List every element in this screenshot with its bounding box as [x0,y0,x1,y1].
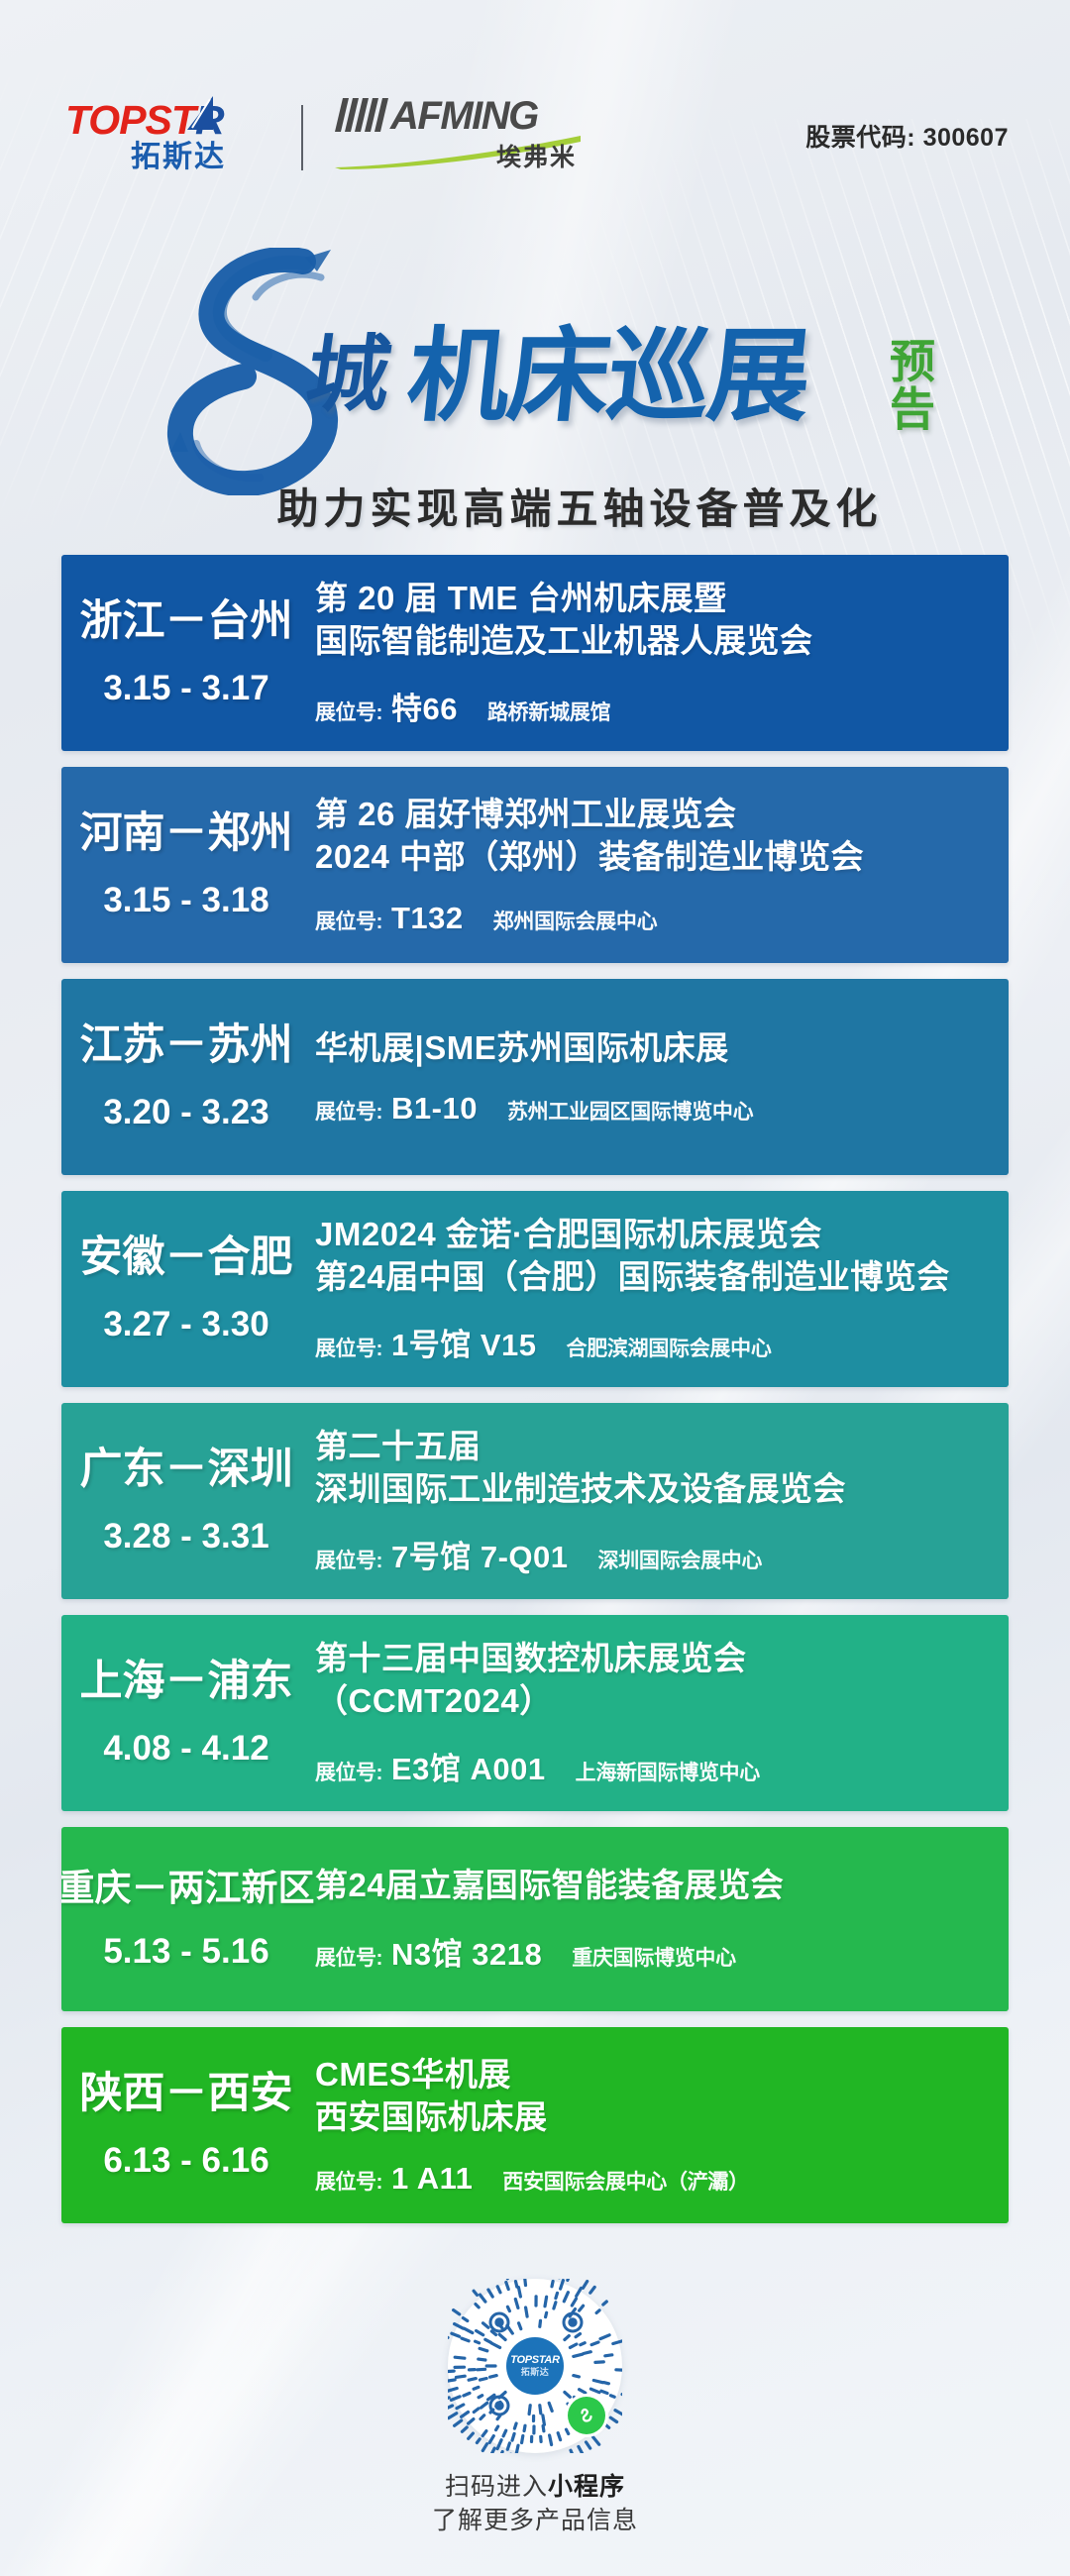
event-date: 3.27 - 3.30 [103,1307,268,1342]
booth-label: 展位号: [315,1545,382,1574]
event-card-left: 浙江－台州3.15 - 3.17 [61,555,311,751]
title-main: 机床巡展 [403,325,814,427]
booth-label: 展位号: [315,906,382,935]
afming-wordmark: AFMING [390,96,538,136]
event-card[interactable]: 安徽－合肥3.27 - 3.30JM2024 金诺·合肥国际机床展览会第24届中… [61,1191,1009,1387]
event-date: 3.28 - 3.31 [103,1519,268,1554]
event-card-right: 第 26 届好博郑州工业展览会2024 中部（郑州）装备制造业博览会展位号:T1… [311,767,1009,963]
booth-label: 展位号: [315,1096,382,1126]
event-date: 3.20 - 3.23 [103,1095,268,1129]
event-date: 3.15 - 3.18 [103,883,268,917]
event-date: 4.08 - 4.12 [103,1731,268,1766]
event-date: 5.13 - 5.16 [103,1934,268,1969]
event-city: 重庆－两江新区 [61,1870,315,1906]
logo-divider [301,105,303,170]
booth-number: B1-10 [391,1091,478,1127]
title-block: 城 机床巡展 预告 助力实现高端五轴设备普及化 [0,238,1070,515]
event-name: 第二十五届深圳国际工业制造技术及设备展览会 [315,1426,999,1511]
event-meta: 展位号:1 A11西安国际会展中心（浐灞） [315,2161,999,2197]
qr-center-logo-cn: 拓斯达 [521,2368,550,2377]
topstar-chinese-name: 拓斯达 [131,143,226,172]
event-name-line: 深圳国际工业制造技术及设备展览会 [315,1468,999,1511]
event-meta: 展位号:1号馆 V15合肥滨湖国际会展中心 [315,1320,999,1364]
footer-caption: 扫码进入小程序 了解更多产品信息 [432,2471,638,2537]
event-name: 华机展|SME苏州国际机床展 [315,1027,999,1070]
event-meta: 展位号:特66路桥新城展馆 [315,684,999,728]
qr-center-logo-en: TOPSTAR [510,2355,559,2366]
event-card-right: 第 20 届 TME 台州机床展暨国际智能制造及工业机器人展览会展位号:特66路… [311,555,1009,751]
event-card[interactable]: 重庆－两江新区5.13 - 5.16第24届立嘉国际智能装备展览会展位号:N3馆… [61,1827,1009,2011]
event-name-line: JM2024 金诺·合肥国际机床展览会 [315,1214,999,1256]
event-name: 第十三届中国数控机床展览会（CCMT2024） [315,1638,999,1723]
booth-number: 1号馆 V15 [391,1320,537,1364]
event-name: JM2024 金诺·合肥国际机床展览会第24届中国（合肥）国际装备制造业博览会 [315,1214,999,1299]
afming-logo: AFMING 埃弗米 [335,94,583,181]
event-city: 安徽－合肥 [80,1236,293,1279]
event-card[interactable]: 广东－深圳3.28 - 3.31第二十五届深圳国际工业制造技术及设备展览会展位号… [61,1403,1009,1599]
afming-bars-icon [335,98,388,132]
booth-label: 展位号: [315,1757,382,1786]
footer-caption-1b: 小程序 [548,2473,625,2501]
event-city: 江苏－苏州 [80,1024,293,1067]
venue-name: 深圳国际会展中心 [598,1545,763,1574]
venue-name: 重庆国际博览中心 [572,1942,736,1972]
event-card[interactable]: 上海－浦东4.08 - 4.12第十三届中国数控机床展览会（CCMT2024）展… [61,1615,1009,1811]
booth-number: 1 A11 [391,2161,473,2197]
footer: TOPSTAR 拓斯达 扫码进入小程序 了解更多产品信息 [0,2279,1070,2537]
venue-name: 路桥新城展馆 [487,697,610,726]
topstar-wordmark-head: TOPST [65,97,195,143]
event-name-line: 第二十五届 [315,1426,999,1468]
afming-chinese-name: 埃弗米 [496,146,577,170]
event-name-line: （CCMT2024） [315,1680,999,1723]
title-badge-yugao: 预告 [890,339,941,434]
event-card-left: 河南－郑州3.15 - 3.18 [61,767,311,963]
event-name-line: 第 26 届好博郑州工业展览会 [315,794,999,836]
footer-caption-line-2: 了解更多产品信息 [432,2505,638,2538]
event-meta: 展位号:N3馆 3218重庆国际博览中心 [315,1929,999,1974]
event-name-line: 华机展|SME苏州国际机床展 [315,1027,999,1070]
venue-name: 合肥滨湖国际会展中心 [567,1333,772,1362]
footer-caption-1a: 扫码进入 [445,2473,548,2501]
event-meta: 展位号:7号馆 7-Q01深圳国际会展中心 [315,1532,999,1576]
booth-number: E3馆 A001 [391,1744,546,1788]
venue-name: 西安国际会展中心（浐灞） [502,2166,748,2196]
event-name: 第 20 届 TME 台州机床展暨国际智能制造及工业机器人展览会 [315,578,999,663]
event-city: 浙江－台州 [80,600,293,643]
event-card[interactable]: 浙江－台州3.15 - 3.17第 20 届 TME 台州机床展暨国际智能制造及… [61,555,1009,751]
event-city: 河南－郑州 [80,812,293,855]
event-card[interactable]: 河南－郑州3.15 - 3.18第 26 届好博郑州工业展览会2024 中部（郑… [61,767,1009,963]
venue-name: 上海新国际博览中心 [576,1757,760,1786]
event-name-line: 国际智能制造及工业机器人展览会 [315,620,999,663]
booth-number: 7号馆 7-Q01 [391,1532,569,1576]
wechat-miniprogram-badge-icon [568,2397,605,2434]
event-meta: 展位号:T132郑州国际会展中心 [315,901,999,936]
miniprogram-qr-code[interactable]: TOPSTAR 拓斯达 [448,2279,622,2453]
booth-label: 展位号: [315,1942,382,1972]
booth-label: 展位号: [315,697,382,726]
event-card[interactable]: 陕西－西安6.13 - 6.16CMES华机展西安国际机床展展位号:1 A11西… [61,2027,1009,2223]
logo-group: TOPSTR 拓斯达 [65,94,583,181]
topstar-logo: TOPSTR 拓斯达 [65,94,264,181]
footer-caption-line-1: 扫码进入小程序 [432,2471,638,2505]
event-card-left: 上海－浦东4.08 - 4.12 [61,1615,311,1811]
title-subtitle: 助力实现高端五轴设备普及化 [0,488,1070,530]
event-card-right: 华机展|SME苏州国际机床展展位号:B1-10苏州工业园区国际博览中心 [311,979,1009,1175]
booth-number: T132 [391,901,464,936]
booth-number: N3馆 3218 [391,1929,542,1974]
event-city: 陕西－西安 [80,2073,293,2115]
event-card[interactable]: 江苏－苏州3.20 - 3.23华机展|SME苏州国际机床展展位号:B1-10苏… [61,979,1009,1175]
event-name-line: 第24届立嘉国际智能装备展览会 [315,1865,999,1907]
event-name-line: 第 20 届 TME 台州机床展暨 [315,578,999,620]
topstar-sail-icon [183,96,217,142]
event-meta: 展位号:E3馆 A001上海新国际博览中心 [315,1744,999,1788]
venue-name: 郑州国际会展中心 [493,906,658,935]
stock-code: 股票代码: 300607 [805,118,1009,154]
event-date: 3.15 - 3.17 [103,671,268,705]
event-card-right: 第二十五届深圳国际工业制造技术及设备展览会展位号:7号馆 7-Q01深圳国际会展… [311,1403,1009,1599]
event-name-line: 西安国际机床展 [315,2096,999,2139]
header: TOPSTR 拓斯达 [0,94,1070,185]
event-city: 上海－浦东 [80,1661,293,1703]
poster-root: TOPSTR 拓斯达 [0,0,1070,2576]
booth-number: 特66 [391,684,458,728]
event-name-line: 第24届中国（合肥）国际装备制造业博览会 [315,1256,999,1299]
title-cheng: 城 [301,333,396,416]
event-card-left: 陕西－西安6.13 - 6.16 [61,2027,311,2223]
event-card-left: 重庆－两江新区5.13 - 5.16 [61,1827,311,2011]
event-card-right: CMES华机展西安国际机床展展位号:1 A11西安国际会展中心（浐灞） [311,2027,1009,2223]
event-meta: 展位号:B1-10苏州工业园区国际博览中心 [315,1091,999,1127]
event-card-right: 第十三届中国数控机床展览会（CCMT2024）展位号:E3馆 A001上海新国际… [311,1615,1009,1811]
event-card-left: 广东－深圳3.28 - 3.31 [61,1403,311,1599]
event-name-line: CMES华机展 [315,2054,999,2096]
event-name-line: 第十三届中国数控机床展览会 [315,1638,999,1680]
event-name: CMES华机展西安国际机床展 [315,2054,999,2139]
event-city: 广东－深圳 [80,1449,293,1491]
booth-label: 展位号: [315,2166,382,2196]
event-card-right: JM2024 金诺·合肥国际机床展览会第24届中国（合肥）国际装备制造业博览会展… [311,1191,1009,1387]
booth-label: 展位号: [315,1333,382,1362]
event-name-line: 2024 中部（郑州）装备制造业博览会 [315,836,999,879]
event-name: 第24届立嘉国际智能装备展览会 [315,1865,999,1907]
qr-center-logo: TOPSTAR 拓斯达 [506,2337,564,2395]
event-card-list: 浙江－台州3.15 - 3.17第 20 届 TME 台州机床展暨国际智能制造及… [61,555,1009,2239]
event-date: 6.13 - 6.16 [103,2143,268,2178]
venue-name: 苏州工业园区国际博览中心 [507,1096,753,1126]
event-card-left: 安徽－合肥3.27 - 3.30 [61,1191,311,1387]
event-card-left: 江苏－苏州3.20 - 3.23 [61,979,311,1175]
event-name: 第 26 届好博郑州工业展览会2024 中部（郑州）装备制造业博览会 [315,794,999,879]
event-card-right: 第24届立嘉国际智能装备展览会展位号:N3馆 3218重庆国际博览中心 [311,1827,1009,2011]
